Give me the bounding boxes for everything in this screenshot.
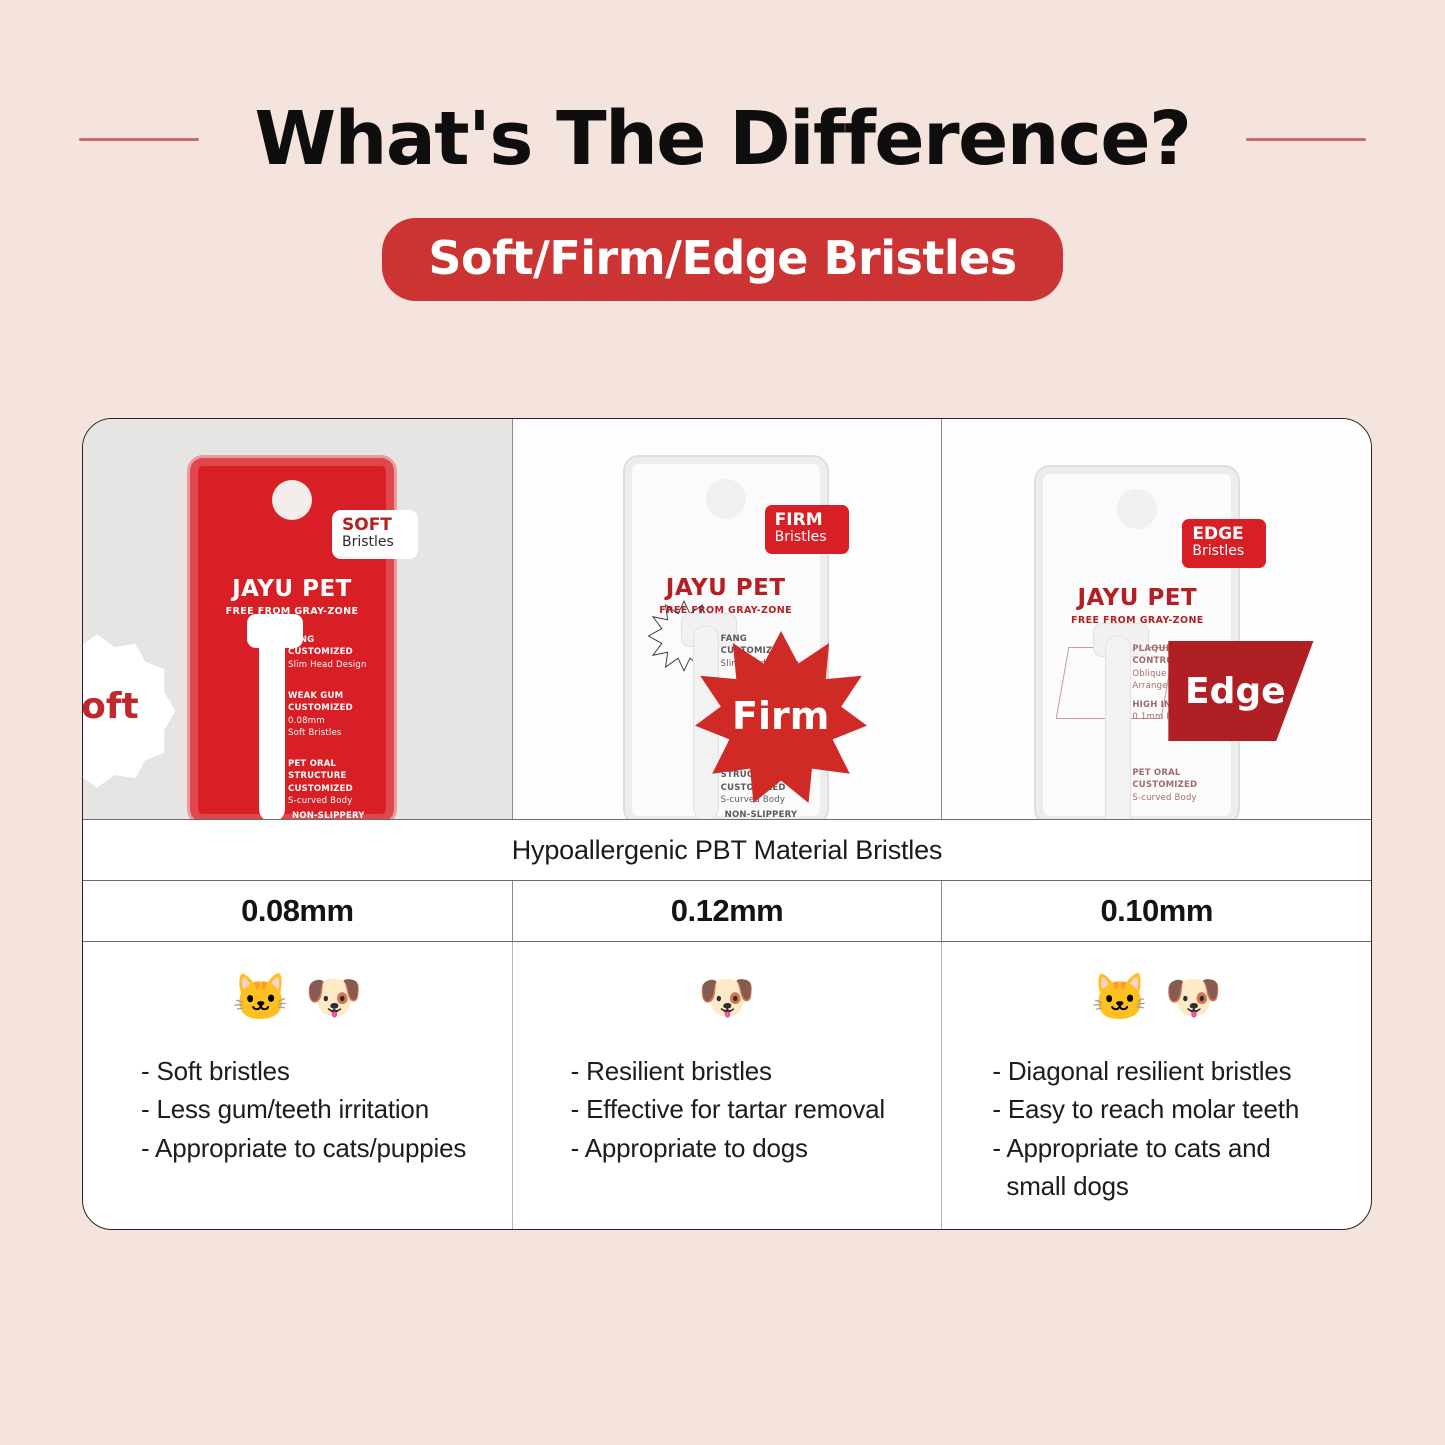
product-panel-firm: FIRM Bristles JAYU PET FREE FROM GRAY-ZO… [512,419,942,819]
corner-badge-firm: FIRM Bristles [765,505,849,554]
package-soft: SOFT Bristles JAYU PET FREE FROM GRAY-ZO… [187,455,397,819]
list-item: - Diagonal resilient bristles [992,1052,1345,1090]
badge-soft: Soft [83,631,177,781]
title-row: What's The Difference? [0,96,1445,182]
annotation-4: NON-SLIPPERY 3D Finger Grip [725,809,817,819]
pet-icons-firm: 🐶 [539,964,916,1030]
corner-badge-title: SOFT [342,516,408,535]
annotation-line: PET ORAL [1132,767,1224,779]
annotation-line: CUSTOMIZED [288,783,380,795]
annotation-line: NON-SLIPPERY [725,809,817,819]
annotation-line: CUSTOMIZED [288,646,380,658]
detail-cell-firm: 🐶 - Resilient bristles - Effective for t… [512,942,942,1229]
list-item: - Appropriate to dogs [571,1129,916,1167]
annotation-4: NON-SLIPPERY [292,810,384,819]
title-rule-left [79,138,199,141]
title-rule-right [1246,138,1366,141]
annotation-line: S-curved Body [1132,792,1224,804]
pet-icons-edge: 🐱 🐶 [968,964,1345,1030]
dog-face-icon: 🐶 [305,974,362,1020]
badge-firm: Firm [695,631,867,801]
product-panel-soft: SOFT Bristles JAYU PET FREE FROM GRAY-ZO… [83,419,512,819]
infographic-page: What's The Difference? Soft/Firm/Edge Br… [0,0,1445,1445]
list-item: - Appropriate to cats and [992,1129,1345,1167]
annotation-line: CUSTOMIZED [1132,779,1224,791]
annotation-2: WEAK GUM CUSTOMIZED 0.08mm Soft Bristles [288,690,380,739]
size-cell-firm: 0.12mm [512,881,942,941]
page-title: What's The Difference? [255,96,1191,182]
material-row: Hypoallergenic PBT Material Bristles [83,819,1371,880]
comparison-card: SOFT Bristles JAYU PET FREE FROM GRAY-ZO… [82,418,1372,1230]
corner-badge-soft: SOFT Bristles [332,510,418,559]
list-item: - Effective for tartar removal [571,1090,916,1128]
corner-badge-edge: EDGE Bristles [1182,519,1266,568]
list-item: - Easy to reach molar teeth [992,1090,1345,1128]
annotation-line: WEAK GUM [288,690,380,702]
product-panel-edge: EDGE Bristles JAYU PET FREE FROM GRAY-ZO… [941,419,1371,819]
annotation-line: CUSTOMIZED [288,702,380,714]
corner-badge-title: FIRM [775,511,839,530]
subtitle-badge: Soft/Firm/Edge Bristles [382,218,1062,301]
badge-edge: Edge [1168,641,1354,741]
corner-badge-title: EDGE [1192,525,1256,544]
annotation-3: PET ORAL STRUCTURE CUSTOMIZED S-curved B… [288,758,380,807]
subtitle-wrap: Soft/Firm/Edge Bristles [0,218,1445,301]
size-cell-soft: 0.08mm [83,881,512,941]
list-item: - Soft bristles [141,1052,486,1090]
detail-cell-edge: 🐱 🐶 - Diagonal resilient bristles - Easy… [941,942,1371,1229]
pet-icons-soft: 🐱 🐶 [109,964,486,1030]
hang-hole-icon [706,479,746,519]
badge-soft-label: Soft [83,631,177,781]
list-item: small dogs [992,1167,1345,1205]
detail-row: 🐱 🐶 - Soft bristles - Less gum/teeth irr… [83,942,1371,1229]
dog-face-icon: 🐶 [1165,974,1222,1020]
annotation-3: PET ORAL CUSTOMIZED S-curved Body [1132,767,1224,804]
dog-face-icon: 🐶 [698,974,755,1020]
brand-block: JAYU PET FREE FROM GRAY-ZONE [190,576,394,617]
annotation-line: Slim Head Design [288,659,380,671]
annotation-line: NON-SLIPPERY [292,810,384,819]
hang-hole-icon [272,480,312,520]
list-item: - Less gum/teeth irritation [141,1090,486,1128]
brand-name: JAYU PET [190,576,394,602]
bullet-list-firm: - Resilient bristles - Effective for tar… [539,1052,916,1167]
product-panels: SOFT Bristles JAYU PET FREE FROM GRAY-ZO… [83,419,1371,819]
annotation-line: Soft Bristles [288,727,380,739]
size-row: 0.08mm 0.12mm 0.10mm [83,880,1371,942]
list-item: - Appropriate to cats/puppies [141,1129,486,1167]
brand-block: JAYU PET FREE FROM GRAY-ZONE [1036,585,1238,626]
badge-firm-label: Firm [695,631,867,801]
hang-hole-icon [1117,489,1157,529]
brush-handle-shape [259,626,285,819]
brand-name: JAYU PET [1036,585,1238,611]
corner-badge-subtitle: Bristles [1192,544,1256,560]
annotation-line: FANG [288,634,380,646]
annotation-line: S-curved Body [288,795,380,807]
annotation-line: PET ORAL STRUCTURE [288,758,380,783]
brush-handle-shape [1105,635,1131,819]
brand-name: JAYU PET [625,575,827,601]
bullet-list-edge: - Diagonal resilient bristles - Easy to … [968,1052,1345,1206]
bullet-list-soft: - Soft bristles - Less gum/teeth irritat… [109,1052,486,1167]
detail-cell-soft: 🐱 🐶 - Soft bristles - Less gum/teeth irr… [83,942,512,1229]
cat-face-icon: 🐱 [232,974,289,1020]
corner-badge-subtitle: Bristles [342,535,408,551]
badge-edge-label: Edge [1168,641,1302,741]
annotation-line: 0.08mm [288,715,380,727]
size-cell-edge: 0.10mm [941,881,1371,941]
annotation-1: FANG CUSTOMIZED Slim Head Design [288,634,380,671]
corner-badge-subtitle: Bristles [775,530,839,546]
list-item: - Resilient bristles [571,1052,916,1090]
cat-face-icon: 🐱 [1091,974,1148,1020]
